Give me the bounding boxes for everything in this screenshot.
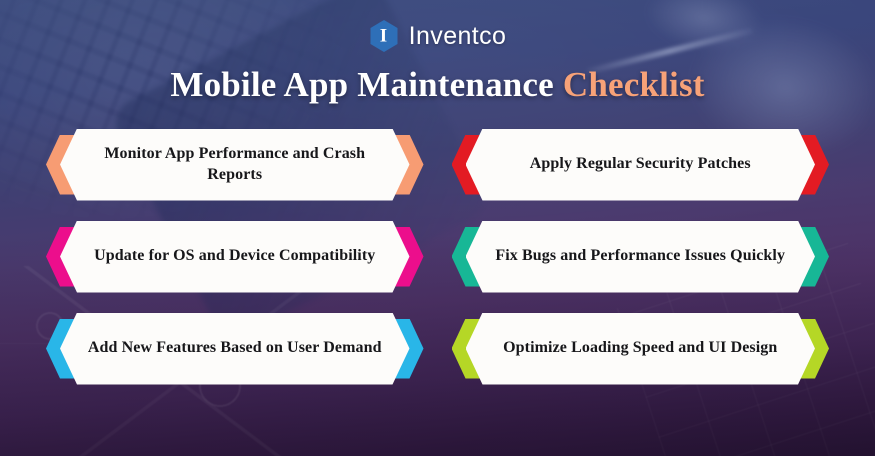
checklist-item-label: Monitor App Performance and Crash Report… (88, 144, 382, 185)
checklist-item: Optimize Loading Speed and UI Design (452, 313, 830, 385)
page-title: Mobile App Maintenance Checklist (0, 66, 875, 105)
brand-mark-letter: I (369, 27, 399, 46)
checklist-item: Fix Bugs and Performance Issues Quickly (452, 221, 830, 293)
checklist-item: Add New Features Based on User Demand (46, 313, 424, 385)
poster-header: I Inventco Mobile App Maintenance Checkl… (0, 0, 875, 105)
checklist-grid: Monitor App Performance and Crash Report… (0, 129, 875, 385)
page-title-main: Mobile App Maintenance (170, 65, 554, 104)
page-title-accent: Checklist (563, 65, 705, 104)
checklist-item: Monitor App Performance and Crash Report… (46, 129, 424, 201)
checklist-item: Apply Regular Security Patches (452, 129, 830, 201)
checklist-item-label: Add New Features Based on User Demand (88, 338, 382, 358)
checklist-item-label: Fix Bugs and Performance Issues Quickly (493, 246, 787, 266)
checklist-item: Update for OS and Device Compatibility (46, 221, 424, 293)
checklist-item-label: Apply Regular Security Patches (493, 154, 787, 174)
brand-lockup: I Inventco (0, 16, 875, 56)
checklist-item-label: Update for OS and Device Compatibility (88, 246, 382, 266)
checklist-item-label: Optimize Loading Speed and UI Design (493, 338, 787, 358)
checklist-poster: I Inventco Mobile App Maintenance Checkl… (0, 0, 875, 456)
brand-name: Inventco (409, 22, 507, 51)
hexagon-logo-icon: I (369, 19, 399, 53)
